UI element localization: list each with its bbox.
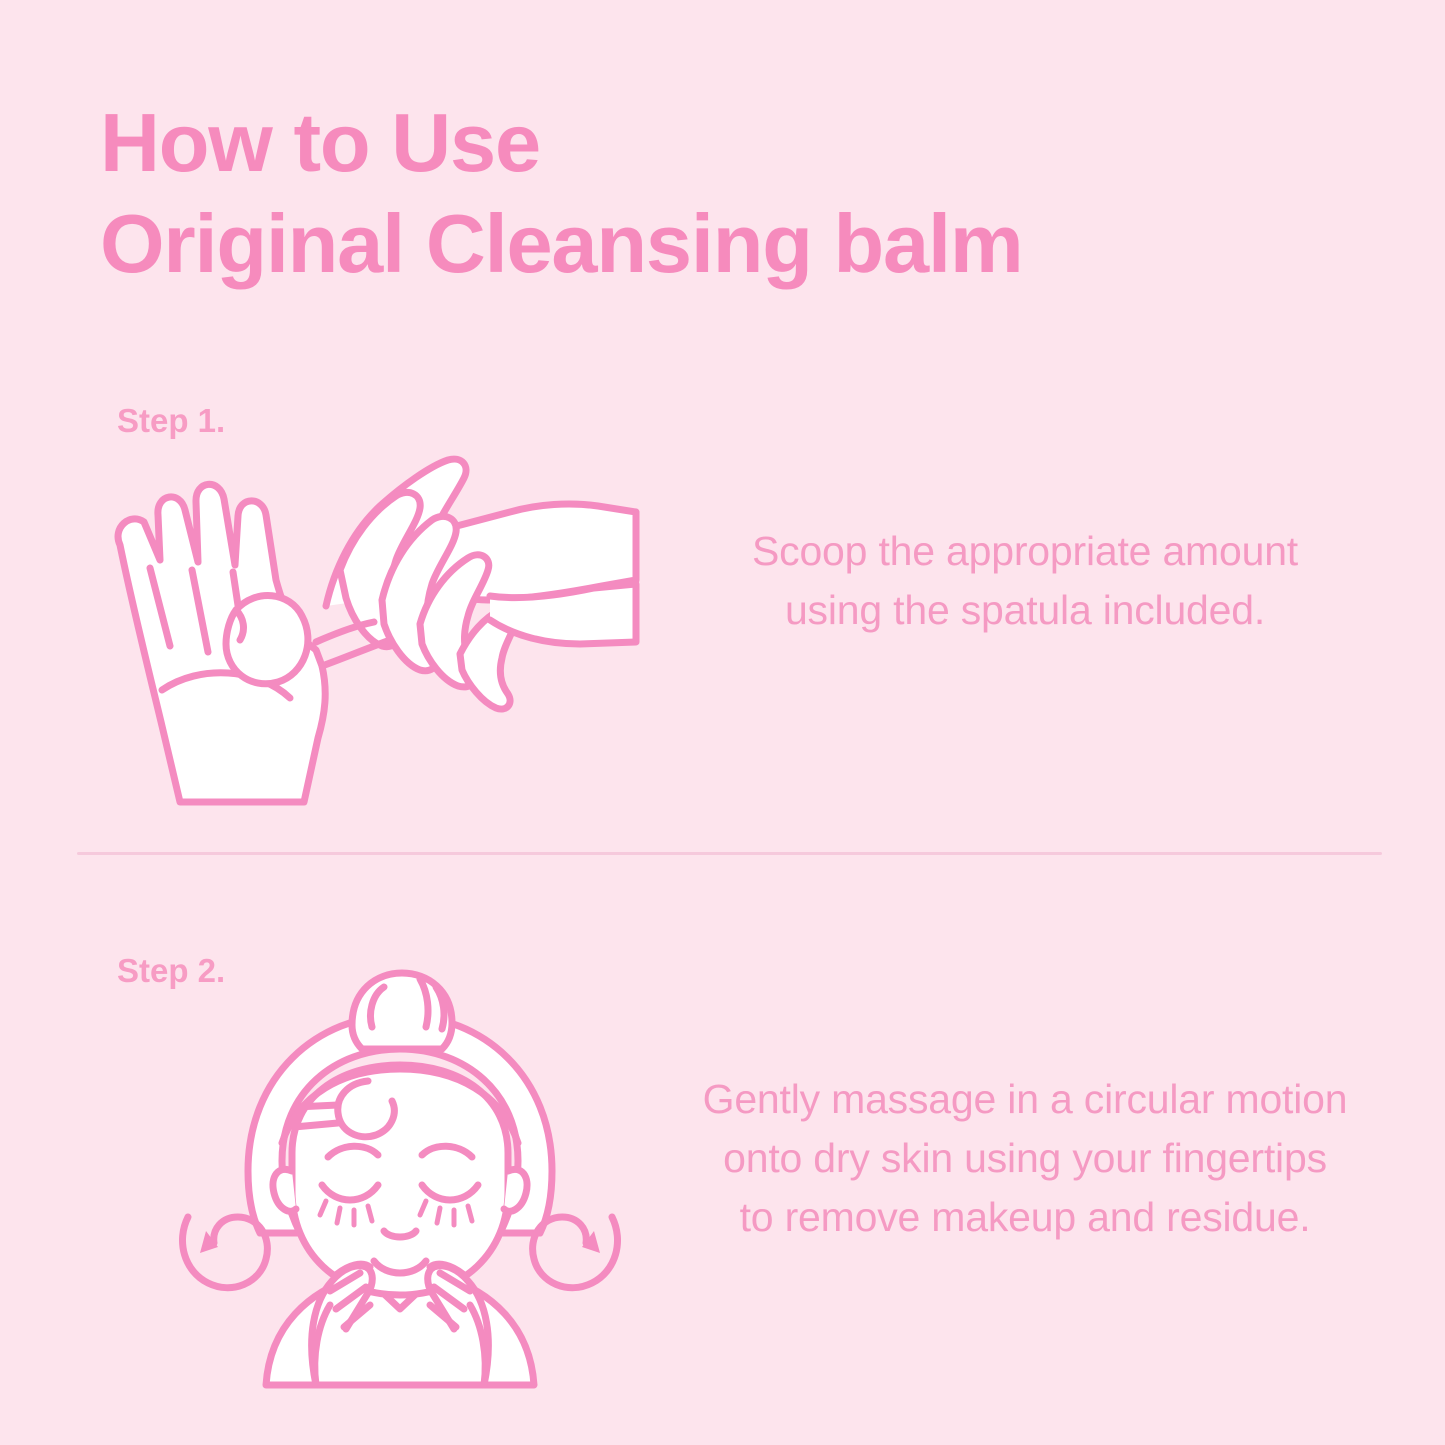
step-2-text-line-3: to remove makeup and residue. (640, 1188, 1410, 1247)
step-2-section: Step 2. (0, 930, 1445, 1380)
title-line-2: Original Cleansing balm (100, 193, 1300, 294)
hands-scooping-balm-with-spatula-icon (90, 420, 650, 820)
title-line-1: How to Use (100, 92, 1300, 193)
step-2-text-line-1: Gently massage in a circular motion (640, 1070, 1410, 1129)
step-2-description: Gently massage in a circular motion onto… (640, 1070, 1410, 1247)
how-to-use-infographic: How to Use Original Cleansing balm Step … (0, 0, 1445, 1445)
step-1-text-line-2: using the spatula included. (640, 581, 1410, 640)
page-title: How to Use Original Cleansing balm (100, 92, 1300, 294)
step-1-section: Step 1. (0, 380, 1445, 830)
woman-massaging-face-with-fingertips-icon (170, 965, 630, 1385)
step-2-text-line-2: onto dry skin using your fingertips (640, 1129, 1410, 1188)
step-1-text-line-1: Scoop the appropriate amount (640, 522, 1410, 581)
step-1-description: Scoop the appropriate amount using the s… (640, 522, 1410, 640)
section-divider (77, 852, 1382, 855)
